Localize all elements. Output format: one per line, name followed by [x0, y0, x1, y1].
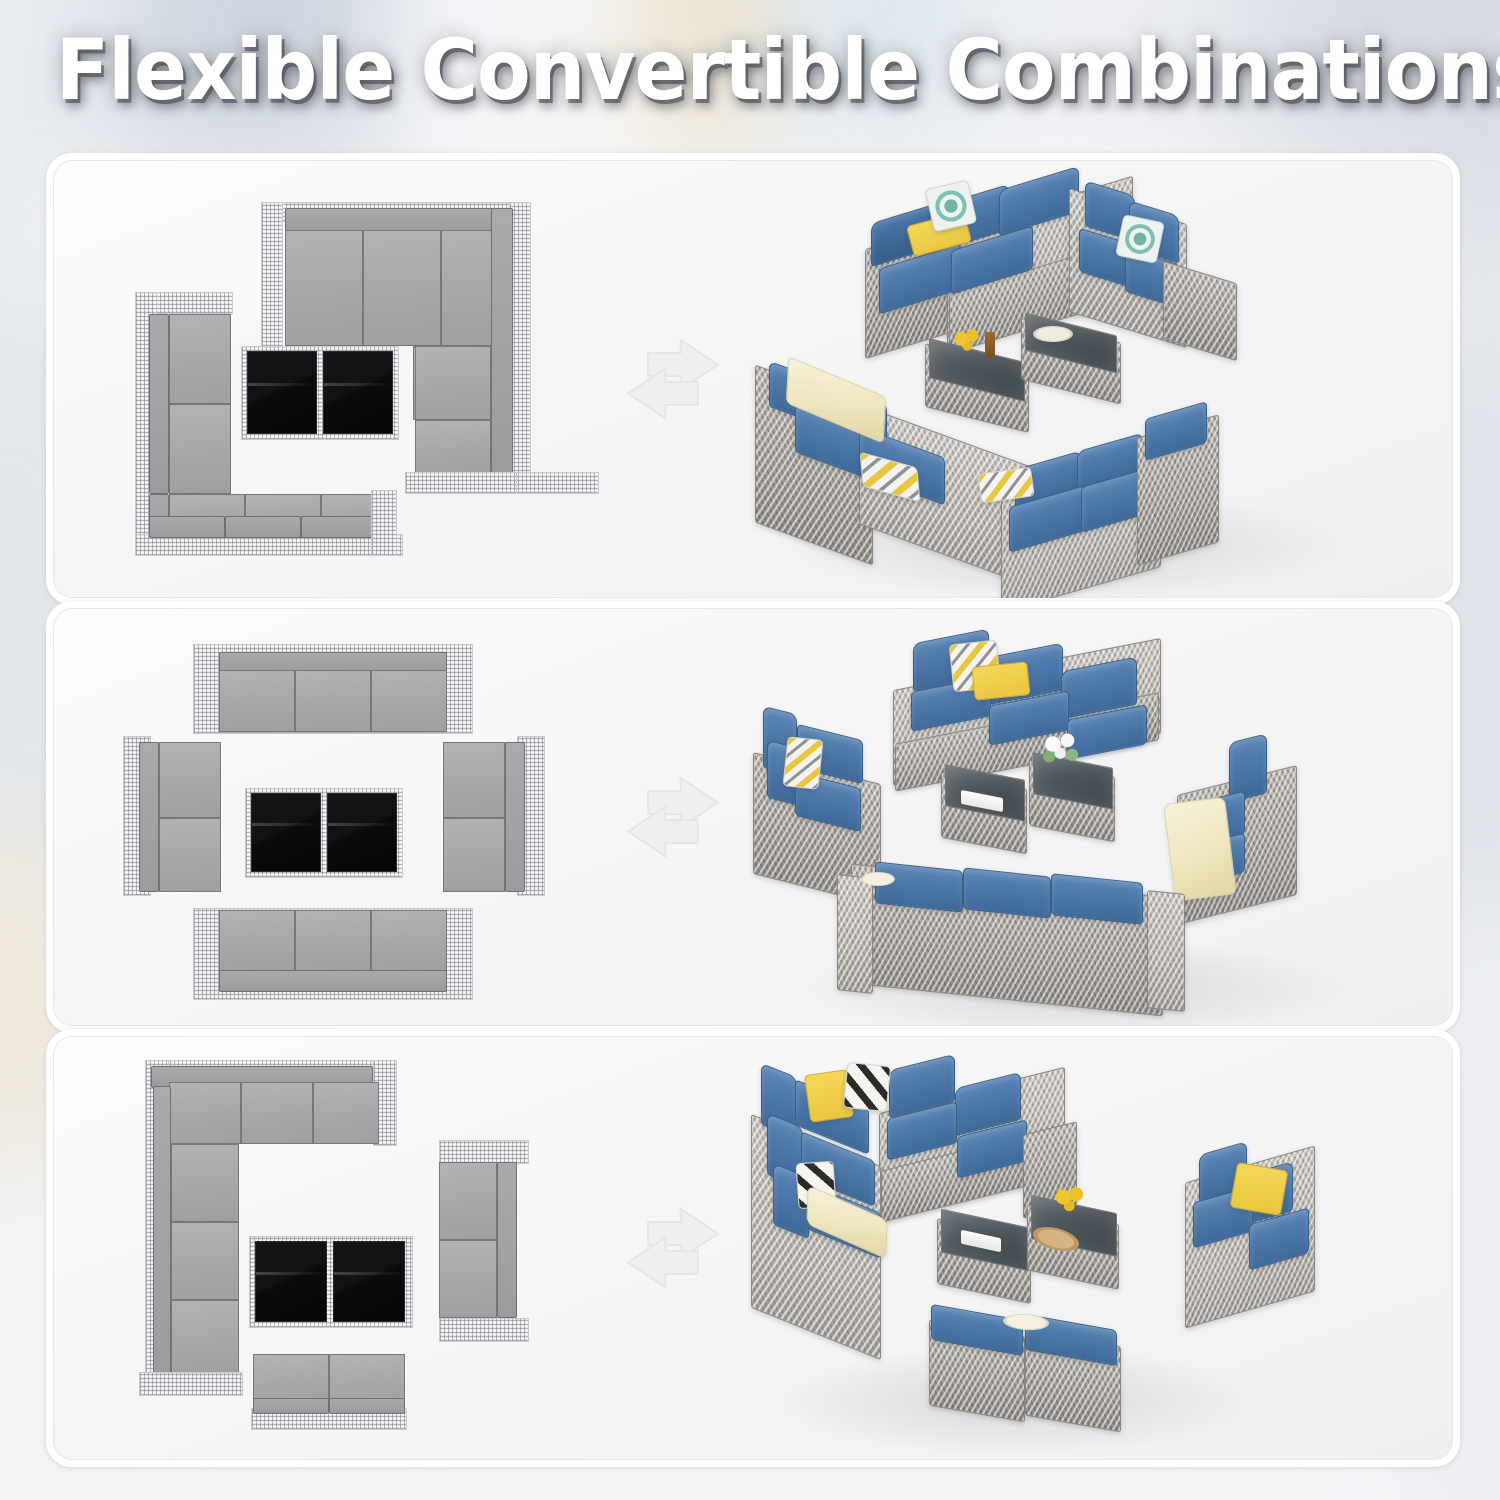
product-photo-2 — [733, 608, 1453, 1026]
layout-diagram-2 — [53, 608, 613, 1026]
swap-horizontal-arrows-icon — [625, 336, 721, 422]
sunflower-vase — [1051, 1184, 1089, 1218]
swap-arrow-1 — [613, 160, 733, 598]
combination-panel-1 — [46, 153, 1460, 605]
swap-arrow-2 — [613, 608, 733, 1026]
yellow-lumbar-pillow — [971, 661, 1030, 701]
product-photo-3 — [733, 1036, 1453, 1460]
abstract-pillow — [843, 1062, 892, 1112]
swap-horizontal-arrows-icon — [625, 1205, 721, 1291]
product-photo-1 — [733, 160, 1453, 598]
layout-diagram-3 — [53, 1036, 613, 1460]
page-title: Flexible Convertible Combinations — [0, 28, 1500, 112]
combination-panel-3 — [46, 1029, 1460, 1467]
layout-diagram-1 — [53, 160, 613, 598]
glass-table-right — [323, 351, 393, 434]
combination-panel-2 — [46, 601, 1460, 1033]
white-floral-vase — [1039, 730, 1085, 770]
page-title-text: Flexible Convertible Combinations — [56, 28, 1500, 112]
sunflower-vase — [951, 326, 985, 358]
glass-table-left — [247, 351, 317, 434]
swap-horizontal-arrows-icon — [625, 774, 721, 860]
swap-arrow-3 — [613, 1036, 733, 1460]
